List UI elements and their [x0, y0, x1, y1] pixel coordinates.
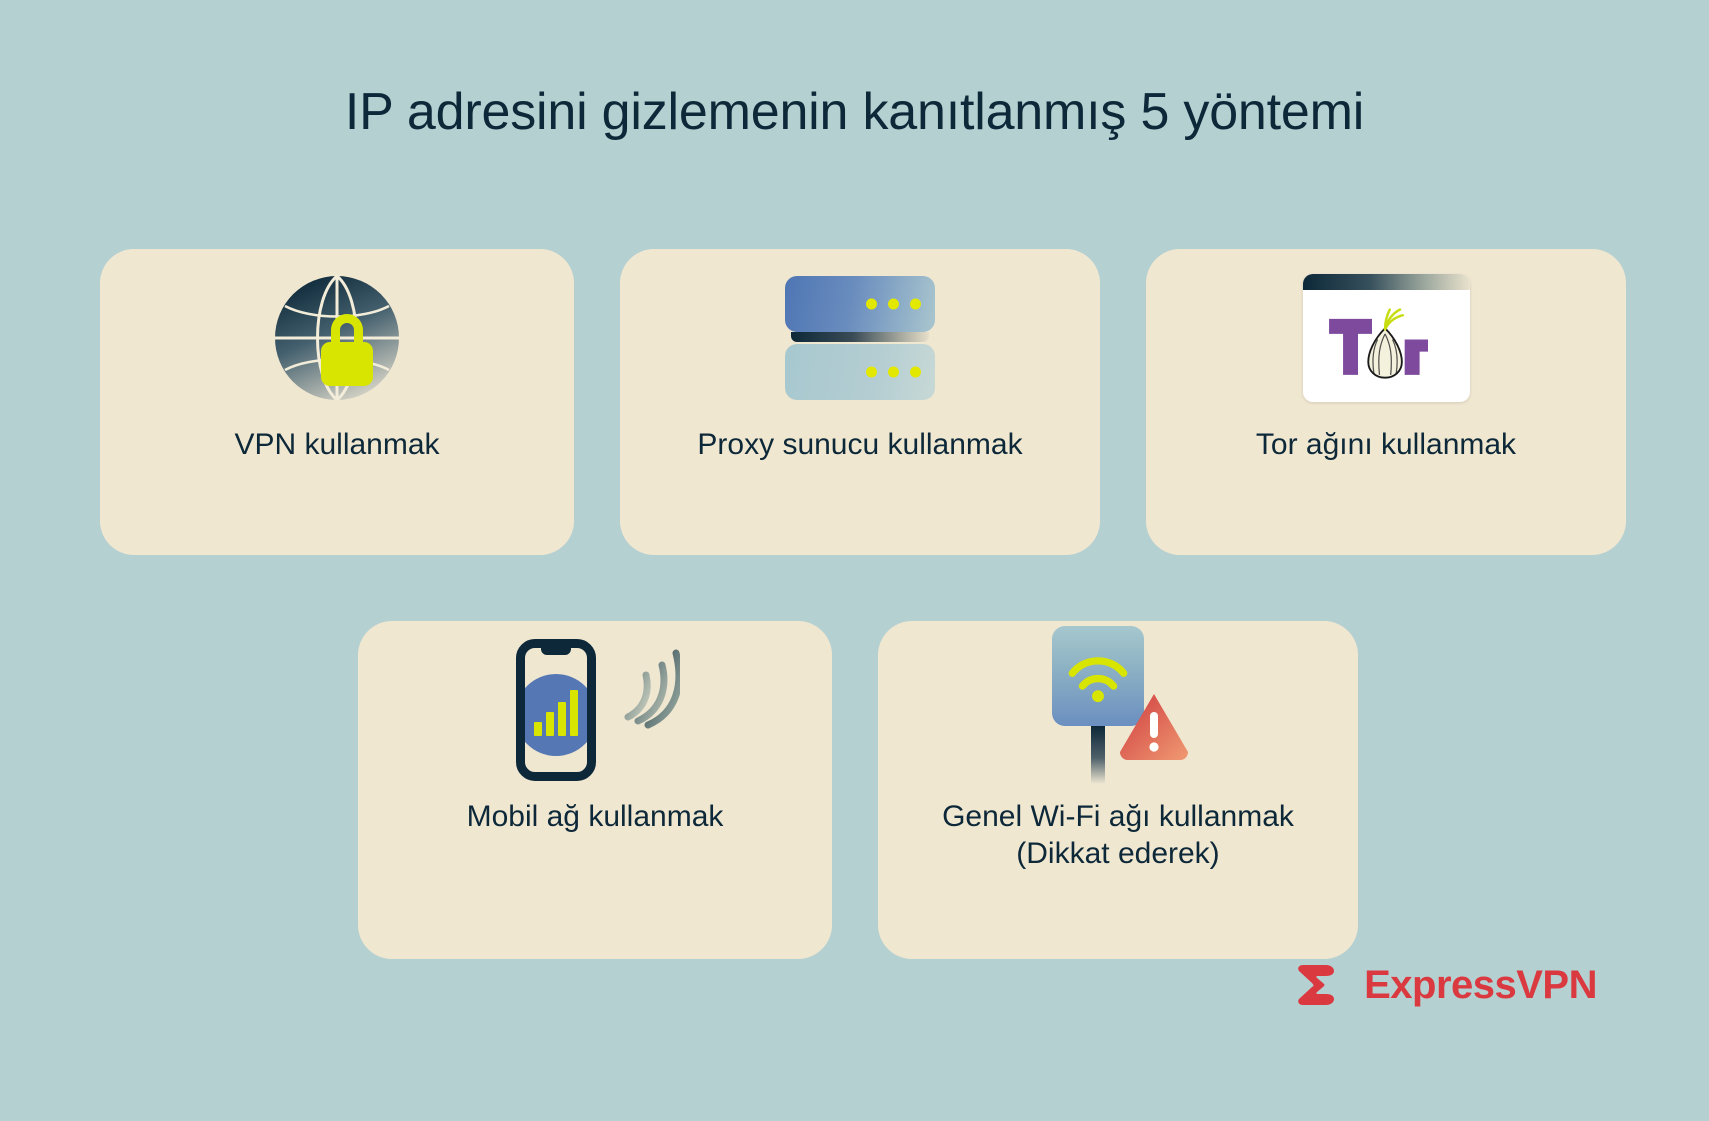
method-card-vpn[interactable]: VPN kullanmak: [100, 249, 574, 555]
tor-browser-icon: [1146, 249, 1626, 427]
server-bar-bottom: [785, 344, 935, 400]
method-label: Mobil ağ kullanmak: [451, 799, 740, 836]
method-card-mobile[interactable]: Mobil ağ kullanmak: [358, 621, 832, 959]
globe-lock-icon: [100, 249, 574, 427]
signal-bar: [558, 702, 566, 736]
infographic-canvas: IP adresini gizlemenin kanıtlanmış 5 yön…: [0, 0, 1709, 1121]
server-led-dots-top: [866, 299, 921, 310]
led-dot: [910, 367, 921, 378]
method-card-proxy[interactable]: Proxy sunucu kullanmak: [620, 249, 1100, 555]
server-bar-top: [785, 276, 935, 332]
method-label-line2: (Dikkat ederek): [942, 836, 1294, 873]
method-label: VPN kullanmak: [218, 427, 455, 464]
expressvpn-logo-icon: [1296, 959, 1350, 1011]
warning-triangle-icon: [1116, 690, 1192, 760]
methods-row-top: VPN kullanmak: [100, 249, 1626, 555]
brand-name: ExpressVPN: [1364, 963, 1597, 1008]
signal-bar: [546, 712, 554, 736]
browser-title-bar: [1303, 274, 1470, 290]
led-dot: [866, 367, 877, 378]
server-stack-icon: [620, 249, 1100, 427]
led-dot: [866, 299, 877, 310]
led-dot: [888, 367, 899, 378]
method-label-line1: Genel Wi-Fi ağı kullanmak: [942, 799, 1294, 836]
tor-logo: [1303, 290, 1470, 402]
signal-badge: [516, 674, 596, 756]
methods-row-bottom: Mobil ağ kullanmak: [358, 621, 1358, 959]
sign-post: [1091, 726, 1105, 784]
signal-bar: [570, 690, 578, 736]
method-label: Proxy sunucu kullanmak: [681, 427, 1038, 464]
phone-notch: [541, 648, 571, 655]
led-dot: [910, 299, 921, 310]
tor-logo-svg: [1316, 304, 1456, 388]
method-label: Tor ağını kullanmak: [1240, 427, 1532, 464]
method-label: Genel Wi-Fi ağı kullanmak (Dikkat ederek…: [926, 799, 1310, 872]
server-led-dots-bottom: [866, 367, 921, 378]
page-title: IP adresini gizlemenin kanıtlanmış 5 yön…: [0, 82, 1709, 142]
smartphone-icon: [516, 639, 596, 781]
method-card-public-wifi[interactable]: Genel Wi-Fi ağı kullanmak (Dikkat ederek…: [878, 621, 1358, 959]
method-card-tor[interactable]: Tor ağını kullanmak: [1146, 249, 1626, 555]
public-wifi-warning-icon: [878, 621, 1358, 799]
expressvpn-brand: ExpressVPN: [1296, 959, 1597, 1011]
globe-lock-svg: [267, 268, 407, 408]
wireless-waves-icon: [618, 645, 680, 729]
server-shadow: [791, 332, 929, 342]
mobile-signal-icon: [358, 621, 832, 799]
led-dot: [888, 299, 899, 310]
signal-bar: [534, 722, 542, 736]
onion-icon: [1368, 310, 1403, 378]
